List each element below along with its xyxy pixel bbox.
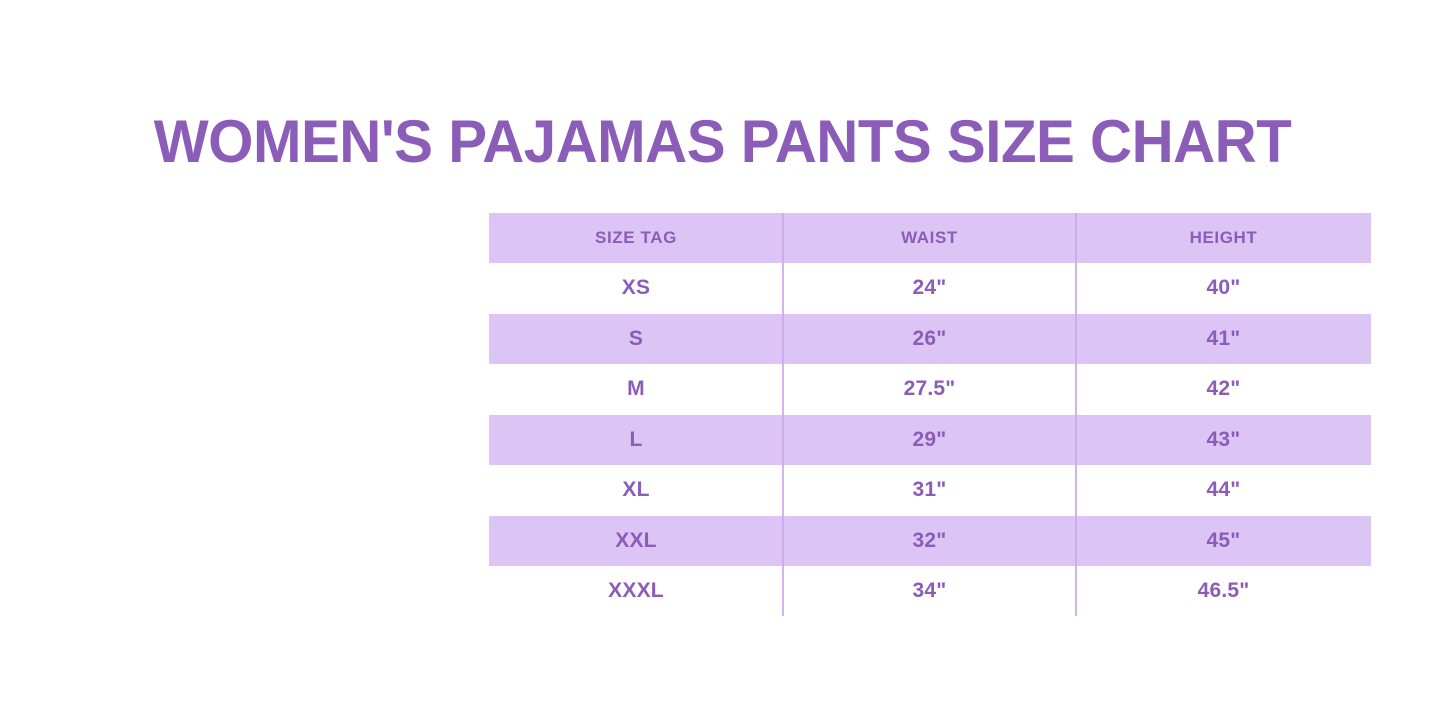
cell-size-tag: XXXL [489, 566, 783, 617]
column-header-waist: WAIST [783, 213, 1076, 263]
cell-size-tag: S [489, 314, 783, 365]
table-header: SIZE TAG WAIST HEIGHT [489, 213, 1371, 263]
cell-size-tag: XL [489, 465, 783, 516]
table-row: XXXL 34" 46.5" [489, 566, 1371, 617]
table-row: L 29" 43" [489, 415, 1371, 466]
cell-size-tag: XS [489, 263, 783, 314]
column-divider-1 [782, 213, 784, 616]
table-row: XL 31" 44" [489, 465, 1371, 516]
table-row: S 26" 41" [489, 314, 1371, 365]
cell-waist: 26" [783, 314, 1076, 365]
table-row: M 27.5" 42" [489, 364, 1371, 415]
size-chart-page: WOMEN'S PAJAMAS PANTS SIZE CHART SIZE TA… [0, 0, 1445, 723]
column-header-height: HEIGHT [1076, 213, 1371, 263]
cell-height: 45" [1076, 516, 1371, 567]
cell-waist: 34" [783, 566, 1076, 617]
cell-waist: 32" [783, 516, 1076, 567]
cell-height: 43" [1076, 415, 1371, 466]
cell-height: 46.5" [1076, 566, 1371, 617]
table-header-row: SIZE TAG WAIST HEIGHT [489, 213, 1371, 263]
cell-height: 42" [1076, 364, 1371, 415]
cell-height: 44" [1076, 465, 1371, 516]
table-row: XXL 32" 45" [489, 516, 1371, 567]
cell-waist: 31" [783, 465, 1076, 516]
column-divider-2 [1075, 213, 1077, 616]
cell-waist: 29" [783, 415, 1076, 466]
cell-height: 40" [1076, 263, 1371, 314]
table-row: XS 24" 40" [489, 263, 1371, 314]
cell-size-tag: XXL [489, 516, 783, 567]
table-body: XS 24" 40" S 26" 41" M 27.5" 42" L 29" 4… [489, 263, 1371, 617]
cell-waist: 27.5" [783, 364, 1076, 415]
size-chart-table: SIZE TAG WAIST HEIGHT XS 24" 40" S 26" 4… [489, 213, 1371, 617]
cell-size-tag: M [489, 364, 783, 415]
page-title: WOMEN'S PAJAMAS PANTS SIZE CHART [22, 110, 1424, 173]
cell-waist: 24" [783, 263, 1076, 314]
column-header-size-tag: SIZE TAG [489, 213, 783, 263]
cell-height: 41" [1076, 314, 1371, 365]
cell-size-tag: L [489, 415, 783, 466]
